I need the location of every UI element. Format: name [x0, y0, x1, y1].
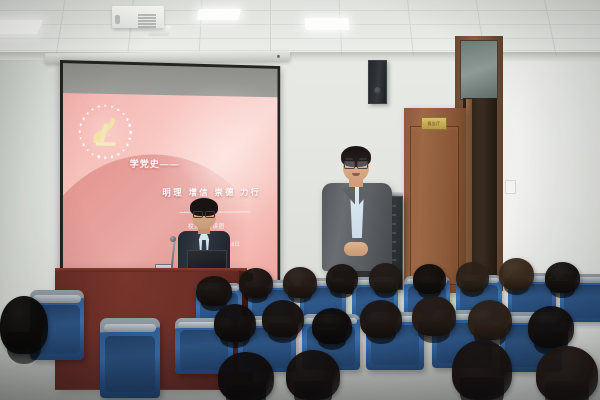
ceiling-panel-light — [0, 20, 43, 34]
slide-title: 学党史—— — [130, 157, 180, 171]
audience-member — [536, 346, 598, 400]
host-glasses-icon — [193, 211, 215, 216]
audience-chair[interactable] — [100, 318, 160, 398]
projected-slide: 学党史—— 明理 增信 崇德 力行 校党委宣讲团 2021年6月18日 — [63, 63, 278, 291]
audience-member — [413, 264, 446, 294]
door-panel-inset — [410, 126, 459, 285]
attendee-nape — [330, 282, 353, 298]
audience-member — [196, 276, 232, 306]
projector-lens-icon — [115, 15, 120, 24]
attendee-nape — [226, 383, 266, 400]
chair-headrest-trim — [104, 324, 157, 333]
audience-member — [326, 264, 358, 293]
attendee-nape — [418, 321, 450, 343]
audience-member — [452, 340, 512, 400]
door-jamb — [466, 99, 472, 289]
audience-member — [239, 268, 273, 298]
presenter-brow-left — [345, 158, 353, 160]
ceiling-panel-light — [197, 9, 241, 20]
audience-member — [412, 296, 456, 336]
speaker-cone-icon — [374, 87, 381, 94]
audience-member — [214, 304, 256, 342]
audience-member — [262, 300, 304, 337]
light-switch[interactable] — [505, 180, 516, 194]
attendee-nape — [294, 381, 333, 400]
presenter-glasses-icon — [344, 161, 368, 167]
audience-member — [468, 300, 512, 340]
wall-speaker — [368, 60, 387, 104]
projection-screen: 学党史—— 明理 增信 崇德 力行 校党委宣讲团 2021年6月18日 — [60, 60, 280, 294]
podium-microphone-head — [170, 236, 176, 242]
slide-subtitle: 明理 增信 崇德 力行 — [162, 186, 261, 199]
screen-case-indicator-icon — [277, 55, 280, 58]
hammer-sickle-icon — [87, 112, 124, 152]
door-nameplate-text: 报告厅 — [428, 122, 441, 126]
cpc-hammer-sickle-emblem — [76, 102, 134, 161]
attendee-nape — [545, 381, 590, 400]
audience-member — [369, 263, 402, 293]
audience-member — [528, 306, 574, 348]
attendee-nape — [460, 377, 503, 400]
presenter-hands — [344, 242, 368, 256]
attendee-nape — [318, 330, 347, 350]
audience-member — [218, 352, 274, 400]
attendee-nape — [268, 323, 298, 343]
audience-member — [499, 258, 534, 290]
audience-member — [286, 350, 340, 400]
attendee-nape — [550, 281, 575, 298]
audience-member — [283, 267, 317, 298]
ceiling-projector — [112, 2, 170, 32]
audience-member — [545, 262, 580, 293]
audience-member — [0, 296, 48, 354]
projector-body — [112, 6, 164, 28]
lecture-hall-photo: 报告厅 学党史—— 明理 增信 崇德 力行 — [0, 0, 600, 400]
projector-vents — [138, 14, 160, 28]
ceiling-tile-grid — [0, 0, 600, 60]
door-transom-window — [460, 40, 498, 100]
presenter-brow-right — [359, 158, 367, 160]
audience-member — [456, 262, 489, 292]
attendee-nape — [7, 332, 42, 364]
audience-member — [360, 300, 402, 338]
ceiling-panel-light — [304, 18, 349, 30]
door-nameplate: 报告厅 — [421, 117, 447, 130]
audience-member — [312, 308, 352, 344]
